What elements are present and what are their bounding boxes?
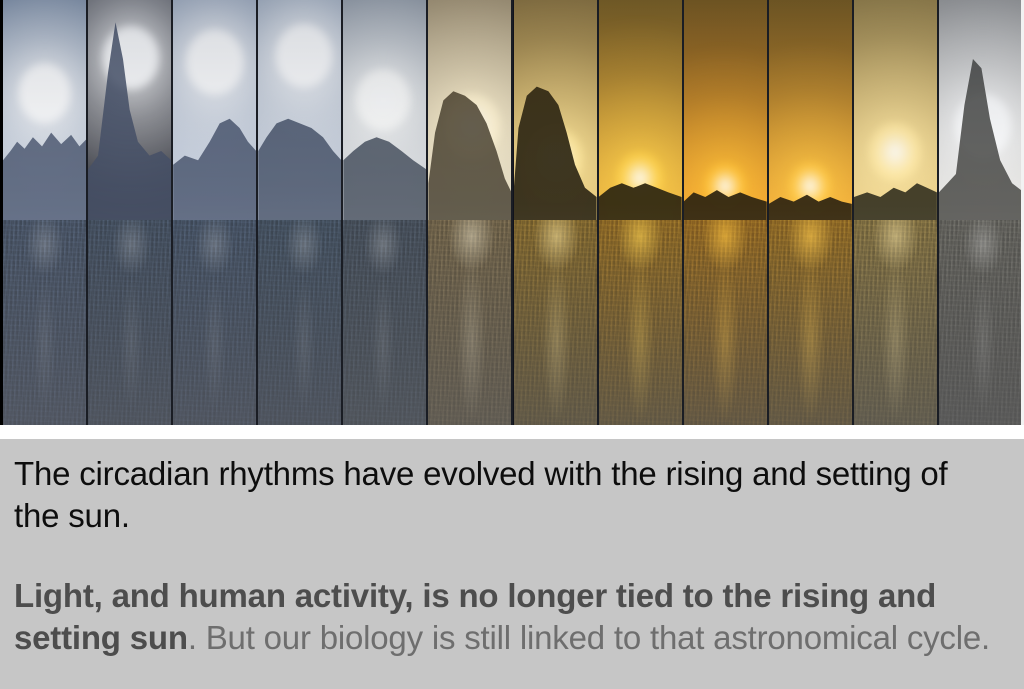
panel-sky [88, 0, 171, 225]
water-ripple-texture [173, 220, 256, 425]
sunrise-to-sunset-timelapse-strip [0, 0, 1024, 425]
water-ripple-texture [599, 220, 682, 425]
water-ripple-texture [684, 220, 767, 425]
timelapse-panel [684, 0, 769, 425]
panel-sea [258, 220, 341, 425]
caption-paragraph-two: Light, and human activity, is no longer … [14, 575, 994, 659]
water-ripple-texture [939, 220, 1024, 425]
water-ripple-texture [3, 220, 86, 425]
timelapse-panel [343, 0, 428, 425]
panel-sea [939, 220, 1024, 425]
panel-sky [173, 0, 256, 225]
caption-paragraph-one: The circadian rhythms have evolved with … [14, 453, 994, 537]
panel-sea [173, 220, 256, 425]
water-ripple-texture [769, 220, 852, 425]
panel-sea [428, 220, 511, 425]
panel-sky [428, 0, 511, 225]
panel-sky [3, 0, 86, 225]
timelapse-panel [258, 0, 343, 425]
water-ripple-texture [514, 220, 597, 425]
timelapse-panel [854, 0, 939, 425]
panel-sky [258, 0, 341, 225]
panel-sky [514, 0, 597, 225]
panel-sky [769, 0, 852, 225]
panel-sea [88, 220, 171, 425]
panel-sky [684, 0, 767, 225]
water-ripple-texture [258, 220, 341, 425]
timelapse-panel [514, 0, 599, 425]
water-ripple-texture [854, 220, 937, 425]
timelapse-panel [599, 0, 684, 425]
presentation-slide: The circadian rhythms have evolved with … [0, 0, 1024, 689]
timelapse-panel [428, 0, 513, 425]
caption-block: The circadian rhythms have evolved with … [0, 439, 1024, 689]
panel-sky [854, 0, 937, 225]
timelapse-panel [88, 0, 173, 425]
timelapse-panel [3, 0, 88, 425]
panel-sea [3, 220, 86, 425]
image-caption-divider [0, 425, 1024, 439]
water-ripple-texture [428, 220, 511, 425]
timelapse-panel [173, 0, 258, 425]
timelapse-panel [939, 0, 1024, 425]
water-ripple-texture [343, 220, 426, 425]
timelapse-panel [769, 0, 854, 425]
panel-sea [684, 220, 767, 425]
panel-sea [514, 220, 597, 425]
panel-sky [939, 0, 1024, 225]
panel-sea [343, 220, 426, 425]
panel-sky [599, 0, 682, 225]
caption-paragraph-two-rest: . But our biology is still linked to tha… [188, 619, 990, 656]
water-ripple-texture [88, 220, 171, 425]
panel-sky [343, 0, 426, 225]
panel-sea [769, 220, 852, 425]
panel-sea [599, 220, 682, 425]
panel-sea [854, 220, 937, 425]
